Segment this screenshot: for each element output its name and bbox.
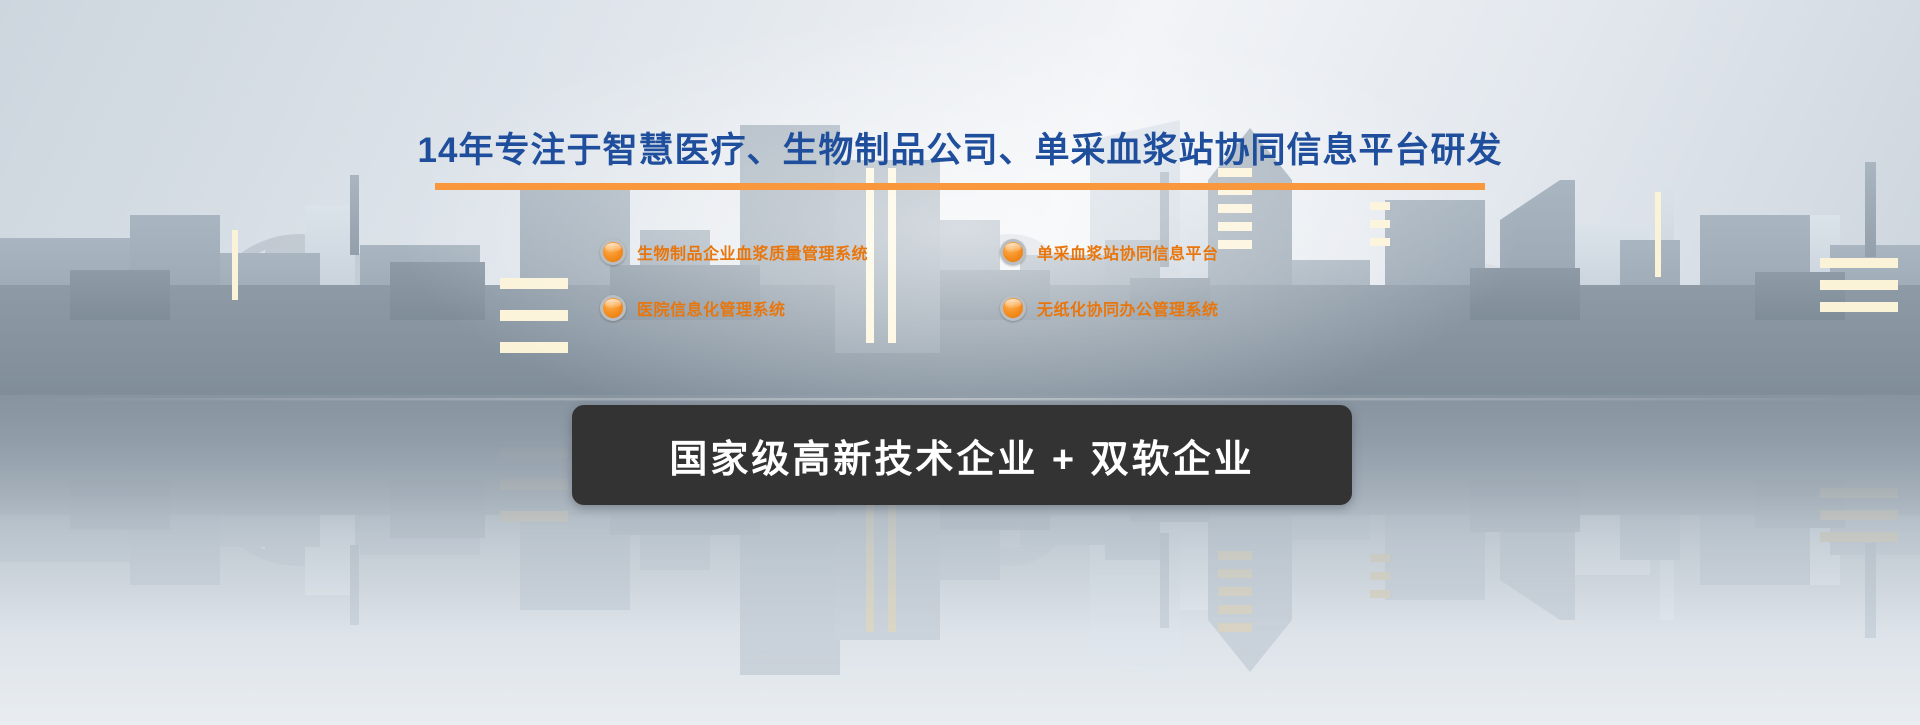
- orange-sphere-bullet-icon: [600, 239, 626, 265]
- feature-label: 生物制品企业血浆质量管理系统: [637, 240, 868, 264]
- feature-item-paperless-office[interactable]: 无纸化协同办公管理系统: [1000, 288, 1320, 328]
- feature-row: 生物制品企业血浆质量管理系统 单采血浆站协同信息平台: [600, 232, 1320, 288]
- page-title: 14年专注于智慧医疗、生物制品公司、单采血浆站协同信息平台研发: [0, 122, 1920, 173]
- status-badge: 国家级高新技术企业 + 双软企业: [572, 405, 1352, 505]
- hero-banner: 14年专注于智慧医疗、生物制品公司、单采血浆站协同信息平台研发 生物制品企业血浆…: [0, 0, 1920, 725]
- orange-sphere-bullet-icon: [1000, 295, 1026, 321]
- feature-item-plasma-station[interactable]: 单采血浆站协同信息平台: [1000, 232, 1320, 272]
- feature-item-plasma-quality[interactable]: 生物制品企业血浆质量管理系统: [600, 232, 1000, 272]
- feature-label: 医院信息化管理系统: [637, 296, 786, 320]
- feature-item-hospital-information[interactable]: 医院信息化管理系统: [600, 288, 1000, 328]
- orange-sphere-bullet-icon: [600, 295, 626, 321]
- banner-content: 14年专注于智慧医疗、生物制品公司、单采血浆站协同信息平台研发 生物制品企业血浆…: [0, 0, 1920, 725]
- orange-sphere-bullet-icon: [1000, 239, 1026, 265]
- title-underline-rule: [435, 183, 1485, 190]
- feature-label: 单采血浆站协同信息平台: [1037, 240, 1219, 264]
- feature-label: 无纸化协同办公管理系统: [1037, 296, 1219, 320]
- badge-label: 国家级高新技术企业 + 双软企业: [669, 428, 1254, 483]
- feature-list: 生物制品企业血浆质量管理系统 单采血浆站协同信息平台 医院信息化管理系统 无纸化…: [600, 232, 1320, 344]
- feature-row: 医院信息化管理系统 无纸化协同办公管理系统: [600, 288, 1320, 344]
